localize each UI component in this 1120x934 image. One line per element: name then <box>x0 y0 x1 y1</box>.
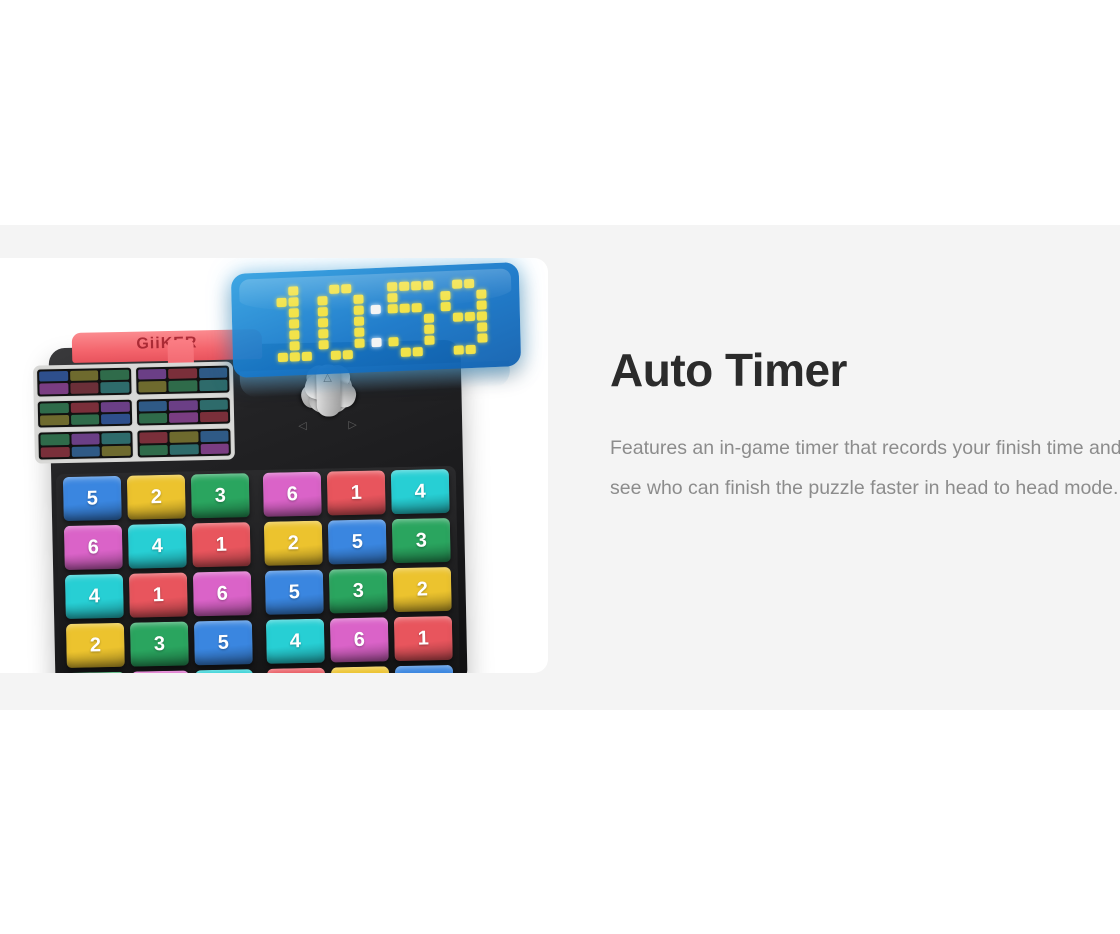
preview-cell <box>199 368 228 379</box>
led-pixel <box>465 311 475 320</box>
preview-cell <box>139 432 168 443</box>
led-pixel <box>453 301 463 310</box>
led-pixel <box>289 308 299 317</box>
preview-panel <box>136 428 232 459</box>
led-pixel <box>452 290 462 299</box>
led-pixel <box>265 331 275 340</box>
preview-cell <box>101 433 130 444</box>
led-pixel <box>289 319 299 328</box>
preview-cell <box>169 432 198 443</box>
led-pixel <box>289 330 299 339</box>
led-pixel <box>388 315 398 324</box>
led-pixel <box>300 296 310 305</box>
led-digit-0 <box>317 283 365 360</box>
led-pixel <box>412 336 422 345</box>
led-pixel <box>465 322 475 331</box>
product-image-card: GiiKER △ ◁ ▷ <box>0 258 548 673</box>
led-pixel <box>288 286 298 295</box>
tile-group-left: 641 <box>61 522 254 573</box>
puzzle-tile[interactable]: 2 <box>127 475 186 520</box>
led-pixel <box>411 281 421 290</box>
led-pixel <box>276 297 286 306</box>
puzzle-tile[interactable]: 4 <box>195 669 254 673</box>
puzzle-tile[interactable]: 1 <box>129 572 188 617</box>
led-pixel <box>388 304 398 313</box>
led-pixel <box>330 306 340 315</box>
led-pixel <box>278 352 288 361</box>
led-digit-9 <box>440 278 488 355</box>
led-pixel <box>388 337 398 346</box>
led-pixel <box>476 289 486 298</box>
led-pixel <box>266 342 276 351</box>
puzzle-tile[interactable]: 3 <box>191 473 250 518</box>
tile-rows: 523614641253416532235461364125 <box>56 466 460 673</box>
led-pixel <box>442 345 452 354</box>
preview-cell <box>70 402 99 413</box>
tile-group-left: 235 <box>63 620 256 671</box>
preview-panel <box>36 367 132 398</box>
led-pixel <box>331 350 341 359</box>
led-pixel <box>371 315 381 324</box>
led-pixel <box>424 335 434 344</box>
led-pixel <box>424 313 434 322</box>
led-pixel <box>301 340 311 349</box>
led-pixel <box>399 281 409 290</box>
led-pixel <box>342 306 352 315</box>
led-pixel <box>440 279 450 288</box>
puzzle-tile[interactable]: 5 <box>63 476 122 521</box>
led-pixel <box>400 303 410 312</box>
led-pixel <box>370 282 380 291</box>
feature-copy-block: Auto Timer Features an in-game timer tha… <box>610 346 1120 508</box>
preview-cell <box>100 382 129 393</box>
puzzle-tile[interactable]: 5 <box>328 519 387 564</box>
led-pixel <box>370 293 380 302</box>
led-pixel <box>318 318 328 327</box>
led-pixel <box>452 279 462 288</box>
led-pixel <box>277 308 287 317</box>
led-pixel <box>387 293 397 302</box>
led-pixel <box>453 334 463 343</box>
led-pixel <box>318 329 328 338</box>
led-pixel <box>353 294 363 303</box>
puzzle-device-illustration: GiiKER △ ◁ ▷ <box>0 258 548 673</box>
led-digit-5 <box>387 280 435 357</box>
led-pixel <box>478 344 488 353</box>
preview-cell <box>70 370 99 381</box>
led-pixel <box>441 301 451 310</box>
led-pixel <box>466 344 476 353</box>
led-pixel <box>290 341 300 350</box>
puzzle-tile[interactable]: 2 <box>66 623 125 668</box>
tile-group-left: 416 <box>62 571 255 622</box>
preview-cell <box>168 368 197 379</box>
puzzle-tile[interactable]: 3 <box>329 568 388 613</box>
led-pixel <box>354 316 364 325</box>
preview-cell <box>200 431 229 442</box>
page-title: Auto Timer <box>610 346 1120 394</box>
led-pixel <box>329 284 339 293</box>
led-pixel <box>342 328 352 337</box>
led-pixel <box>341 295 351 304</box>
preview-cell <box>170 444 199 455</box>
led-pixel <box>400 325 410 334</box>
puzzle-tile[interactable]: 1 <box>192 522 251 567</box>
led-pixel <box>425 346 435 355</box>
led-pixel <box>318 307 328 316</box>
led-pixel <box>424 302 434 311</box>
dpad-left-arrow-icon: ◁ <box>298 421 307 432</box>
led-pixel <box>266 353 276 362</box>
feature-description: Features an in-game timer that records y… <box>610 428 1120 508</box>
preview-cell <box>40 403 69 414</box>
led-pixel <box>453 323 463 332</box>
led-pixel <box>264 298 274 307</box>
led-pixel <box>317 285 327 294</box>
led-pixel <box>477 300 487 309</box>
puzzle-tile[interactable]: 5 <box>395 665 454 673</box>
puzzle-tile[interactable]: 6 <box>64 525 123 570</box>
puzzle-tile[interactable]: 6 <box>330 617 389 662</box>
led-colon-separator <box>370 282 382 357</box>
preview-cell <box>199 380 228 391</box>
led-pixel <box>318 340 328 349</box>
led-pixel <box>354 305 364 314</box>
tile-row: 416532 <box>62 567 455 622</box>
preview-cell <box>41 447 70 458</box>
led-pixel <box>265 309 275 318</box>
led-pixel <box>302 351 312 360</box>
puzzle-tile[interactable]: 1 <box>267 668 326 673</box>
led-pixel <box>371 304 381 313</box>
led-pixel <box>441 334 451 343</box>
led-pixel <box>330 328 340 337</box>
led-timer-panel <box>231 262 521 378</box>
led-pixel <box>400 336 410 345</box>
led-pixel <box>399 292 409 301</box>
tile-group-left: 523 <box>60 473 253 524</box>
preview-cell <box>39 371 68 382</box>
led-pixel <box>354 327 364 336</box>
tile-row: 235461 <box>63 616 456 671</box>
led-pixel <box>465 300 475 309</box>
preview-cell <box>71 434 100 445</box>
led-pixel <box>401 347 411 356</box>
led-pixel <box>440 290 450 299</box>
led-pixel <box>276 286 286 295</box>
led-pixel <box>301 329 311 338</box>
preview-panel <box>135 365 231 396</box>
led-pixel <box>277 330 287 339</box>
led-pixel <box>329 295 339 304</box>
dpad-right-arrow-icon: ▷ <box>348 420 357 431</box>
led-pixel <box>464 278 474 287</box>
puzzle-tile[interactable]: 5 <box>265 570 324 615</box>
preview-cell <box>139 445 168 456</box>
led-pixel <box>477 322 487 331</box>
led-pixel <box>277 319 287 328</box>
led-pixel <box>441 323 451 332</box>
led-pixel <box>441 312 451 321</box>
tile-group-right: 461 <box>263 616 456 667</box>
led-pixel <box>278 341 288 350</box>
led-pixel <box>454 345 464 354</box>
preview-cell <box>39 383 68 394</box>
preview-cell <box>101 414 130 425</box>
puzzle-tile[interactable]: 1 <box>394 616 453 661</box>
led-pixel <box>413 347 423 356</box>
led-pixel <box>465 333 475 342</box>
led-pixel <box>264 287 274 296</box>
led-pixel <box>412 325 422 334</box>
preview-cell <box>168 381 197 392</box>
preview-cell <box>200 443 229 454</box>
led-pixel <box>330 317 340 326</box>
preview-cell <box>199 399 228 410</box>
tile-group-right: 253 <box>261 518 454 569</box>
led-pixel <box>387 282 397 291</box>
puzzle-tile[interactable]: 2 <box>331 666 390 673</box>
page-top-spacer <box>0 0 1120 225</box>
led-digit-1 <box>264 285 312 362</box>
preview-cell <box>40 415 69 426</box>
led-pixel <box>424 324 434 333</box>
preview-cell <box>138 369 167 380</box>
led-pixel <box>423 280 433 289</box>
led-pixel <box>388 326 398 335</box>
preview-cell <box>70 383 99 394</box>
preview-cell <box>40 434 69 445</box>
puzzle-tile[interactable]: 5 <box>194 620 253 665</box>
led-pixel <box>412 314 422 323</box>
preview-cell <box>199 412 228 423</box>
led-pixel <box>343 350 353 359</box>
preview-panel <box>37 430 133 461</box>
led-pixel <box>464 289 474 298</box>
preview-cell <box>169 412 198 423</box>
page-bottom-spacer <box>0 710 1120 934</box>
led-pixel <box>400 314 410 323</box>
led-pixel <box>319 351 329 360</box>
auto-timer-feature-section: GiiKER △ ◁ ▷ <box>0 225 1120 710</box>
puzzle-tile[interactable]: 6 <box>263 472 322 517</box>
led-pixel <box>371 337 381 346</box>
led-pixel <box>411 292 421 301</box>
preview-panel <box>37 398 133 429</box>
preview-cell <box>138 401 167 412</box>
led-pixel <box>412 303 422 312</box>
led-pixel <box>477 311 487 320</box>
puzzle-tile-tray: 523614641253416532235461364125 <box>56 466 460 673</box>
led-pixel <box>301 307 311 316</box>
led-pixel <box>290 352 300 361</box>
puzzle-tile[interactable]: 3 <box>392 518 451 563</box>
led-pixel <box>342 317 352 326</box>
puzzle-tile[interactable]: 6 <box>131 670 190 673</box>
puzzle-tile[interactable]: 4 <box>65 574 124 619</box>
led-pixel <box>354 338 364 347</box>
preview-grid-panel <box>33 362 235 464</box>
preview-cell <box>102 445 131 456</box>
led-pixel <box>265 320 275 329</box>
puzzle-tile[interactable]: 1 <box>327 470 386 515</box>
led-pixel <box>301 318 311 327</box>
led-pixel <box>476 278 486 287</box>
puzzle-tile[interactable]: 4 <box>266 619 325 664</box>
puzzle-tile[interactable]: 3 <box>67 672 126 673</box>
tile-group-right: 614 <box>260 469 453 520</box>
tile-row: 523614 <box>60 469 453 524</box>
led-pixel <box>423 291 433 300</box>
preview-cell <box>169 400 198 411</box>
led-pixel <box>300 285 310 294</box>
led-pixel <box>353 283 363 292</box>
puzzle-tile[interactable]: 2 <box>393 567 452 612</box>
preview-cell <box>100 370 129 381</box>
led-pixel <box>330 339 340 348</box>
led-pixel <box>372 348 382 357</box>
led-pixel <box>342 339 352 348</box>
preview-cell <box>70 414 99 425</box>
led-pixel <box>477 333 487 342</box>
preview-cell <box>71 446 100 457</box>
led-pixel <box>355 349 365 358</box>
led-pixel <box>389 348 399 357</box>
puzzle-tile[interactable]: 4 <box>391 469 450 514</box>
led-pixel <box>453 312 463 321</box>
preview-cell <box>138 381 167 392</box>
led-pixel <box>317 296 327 305</box>
puzzle-tile[interactable]: 3 <box>130 621 189 666</box>
puzzle-tile[interactable]: 2 <box>264 521 323 566</box>
puzzle-tile[interactable]: 4 <box>128 523 187 568</box>
led-pixel <box>288 297 298 306</box>
preview-panel <box>135 396 231 427</box>
preview-cell <box>101 401 130 412</box>
tile-group-right: 532 <box>262 567 455 618</box>
led-pixel <box>371 326 381 335</box>
tile-row: 641253 <box>61 518 454 573</box>
puzzle-tile[interactable]: 6 <box>193 571 252 616</box>
preview-cell <box>138 413 167 424</box>
led-pixel <box>341 284 351 293</box>
